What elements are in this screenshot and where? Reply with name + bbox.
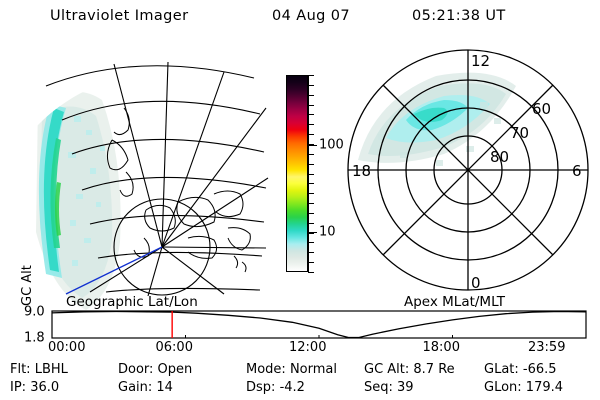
colorbar-minor-tick <box>308 272 314 273</box>
status-field: Door: Open <box>118 362 192 377</box>
geographic-globe-svg <box>28 42 268 297</box>
status-field-value: 39 <box>397 380 414 395</box>
orbit-x-tick-label: 18:00 <box>423 340 460 355</box>
apex-grid <box>348 50 588 290</box>
colorbar-minor-tick <box>308 75 314 76</box>
orbit-x-tick-label: 00:00 <box>48 340 85 355</box>
colorbar-minor-tick <box>308 213 314 214</box>
status-field: Mode: Normal <box>246 362 337 377</box>
colorbar-minor-tick <box>308 174 314 175</box>
mlat-label-60: 60 <box>532 100 551 118</box>
status-field-label: GLon: <box>484 380 526 395</box>
aurora-emission-layer <box>36 91 121 310</box>
mlt-label-12: 12 <box>471 52 490 70</box>
status-field-value: 14 <box>156 380 173 395</box>
status-field: GLon: 179.4 <box>484 380 563 395</box>
colorbar-minor-tick <box>308 242 314 243</box>
colorbar-panel: photon cm-2s-1 10010 <box>262 48 340 298</box>
status-field-label: Gain: <box>118 380 156 395</box>
mlt-label-0: 0 <box>471 274 481 292</box>
status-field: IP: 36.0 <box>10 380 59 395</box>
orbit-altitude-curve <box>52 312 586 338</box>
colorbar-minor-tick <box>308 124 314 125</box>
status-field-value: 36.0 <box>30 380 59 395</box>
status-field-value: -66.5 <box>523 362 557 377</box>
colorbar-minor-tick <box>308 134 314 135</box>
orbit-x-tick-label: 12:00 <box>289 340 326 355</box>
status-field: GLat: -66.5 <box>484 362 557 377</box>
colorbar-minor-tick <box>308 193 314 194</box>
colorbar-gradient <box>286 75 308 272</box>
status-field-value: Normal <box>290 362 337 377</box>
colorbar-minor-tick <box>308 105 314 106</box>
status-field-label: Seq: <box>364 380 397 395</box>
colorbar-minor-tick <box>308 183 314 184</box>
apex-mlat-mlt-panel[interactable]: 12 18 6 0 60 70 80 <box>340 42 596 298</box>
colorbar-minor-tick <box>308 114 314 115</box>
status-field-label: Flt: <box>10 362 35 377</box>
orbit-x-tick-label: 23:59 <box>528 340 565 355</box>
geographic-lat-lon-panel[interactable] <box>28 42 268 297</box>
status-field-value: -4.2 <box>280 380 305 395</box>
status-field: Seq: 39 <box>364 380 414 395</box>
colorbar-minor-tick <box>308 95 314 96</box>
status-field-label: IP: <box>10 380 30 395</box>
colorbar-major-tick <box>308 232 317 233</box>
status-field-label: Dsp: <box>246 380 280 395</box>
status-field: Dsp: -4.2 <box>246 380 305 395</box>
observation-date: 04 Aug 07 <box>272 8 350 24</box>
colorbar-tick-label: 10 <box>319 225 336 238</box>
status-field: Flt: LBHL <box>10 362 68 377</box>
orbit-x-tick-label: 06:00 <box>156 340 193 355</box>
instrument-title: Ultraviolet Imager <box>50 8 188 24</box>
colorbar-minor-tick <box>308 164 314 165</box>
orbit-plot-frame <box>52 311 586 338</box>
colorbar-minor-tick <box>308 223 314 224</box>
colorbar-major-tick <box>308 145 317 146</box>
colorbar-minor-tick <box>308 154 314 155</box>
header-bar: Ultraviolet Imager 04 Aug 07 05:21:38 UT <box>0 8 600 32</box>
status-field: Gain: 14 <box>118 380 173 395</box>
status-field-value: 8.7 Re <box>413 362 454 377</box>
mlat-label-80: 80 <box>490 148 509 166</box>
status-field-label: GC Alt: <box>364 362 413 377</box>
mlt-label-18: 18 <box>352 162 371 180</box>
status-field-label: Door: <box>118 362 158 377</box>
colorbar-minor-tick <box>308 85 314 86</box>
status-footer: Flt: LBHLDoor: OpenMode: NormalGC Alt: 8… <box>0 362 600 400</box>
status-field-label: GLat: <box>484 362 523 377</box>
apex-dial-svg: 12 18 6 0 60 70 80 <box>340 42 596 298</box>
colorbar-minor-tick <box>308 203 314 204</box>
orbit-altitude-panel[interactable]: Geographic Lat/Lon Apex MLat/MLT GC Alt … <box>0 296 600 356</box>
status-field-value: 179.4 <box>526 380 563 395</box>
colorbar-minor-tick <box>308 262 314 263</box>
mlat-label-70: 70 <box>510 124 529 142</box>
mlt-label-6: 6 <box>572 162 582 180</box>
colorbar-minor-tick <box>308 252 314 253</box>
observation-time: 05:21:38 UT <box>412 8 506 24</box>
status-field: GC Alt: 8.7 Re <box>364 362 455 377</box>
colorbar-minor-tick <box>308 233 314 234</box>
uvi-summary-plot: Ultraviolet Imager 04 Aug 07 05:21:38 UT <box>0 0 600 400</box>
status-field-value: Open <box>158 362 193 377</box>
status-field-value: LBHL <box>35 362 68 377</box>
status-field-label: Mode: <box>246 362 290 377</box>
